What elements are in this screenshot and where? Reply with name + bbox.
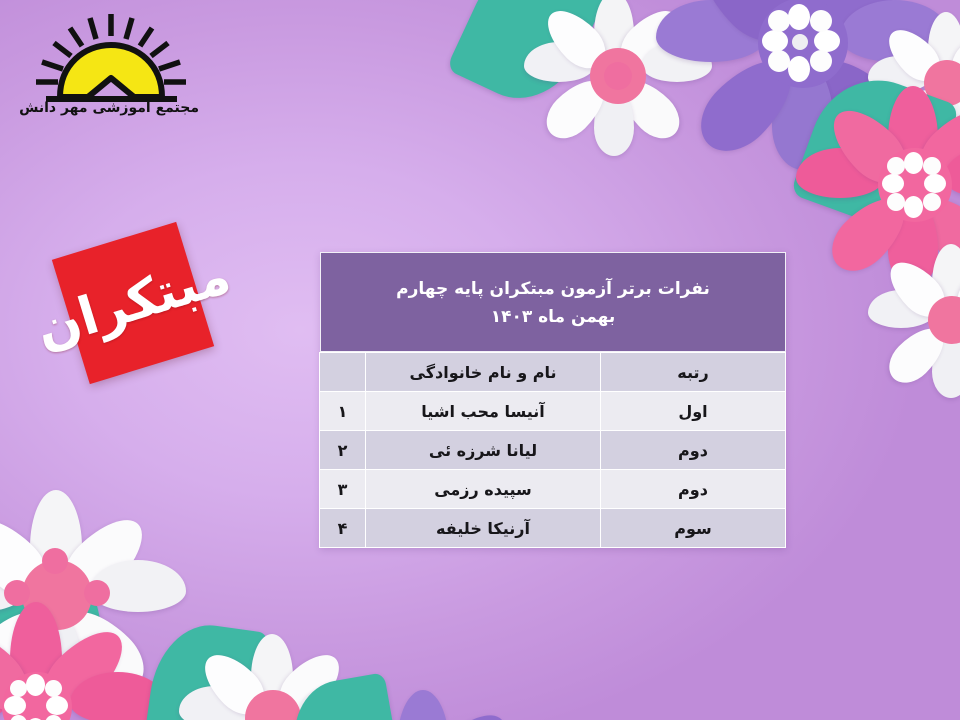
decor-leaf-bottomleft	[0, 560, 130, 710]
board-title: نفرات برتر آزمون مبتکران پایه چهارم بهمن…	[320, 252, 786, 352]
cell-rank: سوم	[601, 509, 786, 548]
decor-leaf-right	[800, 80, 950, 240]
column-header-rank: رتبه	[601, 353, 786, 392]
column-header-name: نام و نام خانوادگی	[366, 353, 601, 392]
cell-name: لیانا شرزه ئی	[366, 431, 601, 470]
decor-flower-white-topright	[880, 18, 960, 158]
decor-flower-purple-top	[690, 0, 920, 160]
decor-leaf-bottom-mid	[150, 625, 300, 720]
decor-leaf-bottom-right	[295, 680, 415, 720]
mobtakeran-logo: مبتکران	[58, 228, 208, 378]
decor-flower-pink-right	[822, 92, 960, 282]
sunrise-icon	[24, 12, 199, 107]
table-row: سوم آرنیکا خلیفه ۴	[320, 509, 786, 548]
decor-leaf-topleft	[470, 0, 590, 110]
school-logo-caption: مجتمع آموزشی مهر دانش	[24, 100, 199, 116]
decor-flower-white-bottomleft	[0, 498, 160, 698]
cell-number: ۲	[320, 431, 366, 470]
cell-number: ۴	[320, 509, 366, 548]
cell-rank: دوم	[601, 431, 786, 470]
mobtakeran-wordmark: مبتکران	[43, 223, 222, 384]
slide-canvas: مجتمع آموزشی مهر دانش مبتکران نفرات برتر…	[0, 0, 960, 720]
table-row: دوم لیانا شرزه ئی ۲	[320, 431, 786, 470]
cell-name: سپیده رزمی	[366, 470, 601, 509]
board-title-line1: نفرات برتر آزمون مبتکران پایه چهارم	[335, 275, 771, 303]
table-row: دوم سپیده رزمی ۳	[320, 470, 786, 509]
decor-flower-white-top	[538, 0, 698, 158]
decor-flower-white-bottom	[195, 640, 355, 720]
decor-flower-pink-bottomleft	[0, 610, 140, 720]
cell-rank: اول	[601, 392, 786, 431]
cell-name: آرنیکا خلیفه	[366, 509, 601, 548]
table-row: اول آنیسا محب اشیا ۱	[320, 392, 786, 431]
ranking-table: رتبه نام و نام خانوادگی اول آنیسا محب اش…	[319, 352, 786, 548]
ranking-board: نفرات برتر آزمون مبتکران پایه چهارم بهمن…	[320, 252, 786, 548]
table-header-row: رتبه نام و نام خانوادگی	[320, 353, 786, 392]
board-title-line2: بهمن ماه ۱۴۰۳	[335, 303, 771, 331]
cell-number: ۱	[320, 392, 366, 431]
cell-rank: دوم	[601, 470, 786, 509]
school-logo: مجتمع آموزشی مهر دانش	[24, 12, 199, 127]
cell-name: آنیسا محب اشیا	[366, 392, 601, 431]
decor-flower-white-right	[880, 250, 960, 400]
cell-number: ۳	[320, 470, 366, 509]
column-header-number	[320, 353, 366, 392]
decor-flower-purple-bottom	[335, 690, 525, 720]
